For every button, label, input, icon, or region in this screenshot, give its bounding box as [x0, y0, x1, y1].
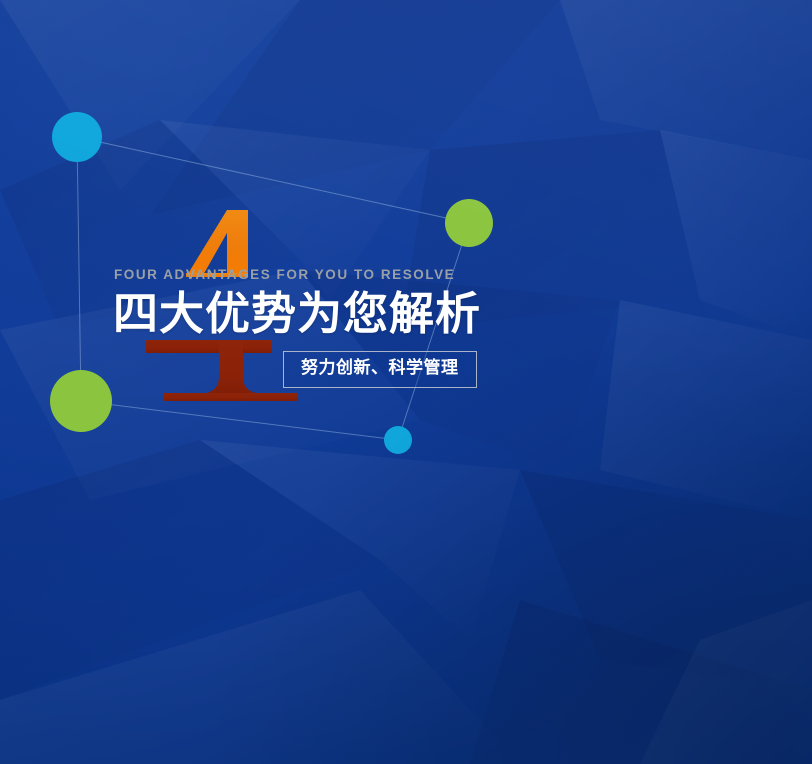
banner-headline: 四大优势为您解析 — [113, 290, 753, 339]
banner-text-block: FOUR ADVANTAGES FOR YOU TO RESOLVE 四大优势为… — [113, 268, 753, 338]
node-cyan-bottom — [384, 426, 412, 454]
link-cyan-top-to-green-bottom — [77, 137, 81, 401]
node-green-right — [445, 199, 493, 247]
promo-banner: FOUR ADVANTAGES FOR YOU TO RESOLVE 四大优势为… — [0, 0, 812, 764]
banner-tagline-box: 努力创新、科学管理 — [283, 351, 477, 388]
node-green-bottom-left — [50, 370, 112, 432]
node-cyan-top-left — [52, 112, 102, 162]
banner-eyebrow: FOUR ADVANTAGES FOR YOU TO RESOLVE — [114, 268, 753, 282]
numeral-four-pedestal — [146, 340, 298, 401]
banner-tagline-wrapper: 努力创新、科学管理 — [283, 351, 477, 388]
banner-tagline-text: 努力创新、科学管理 — [301, 358, 459, 377]
